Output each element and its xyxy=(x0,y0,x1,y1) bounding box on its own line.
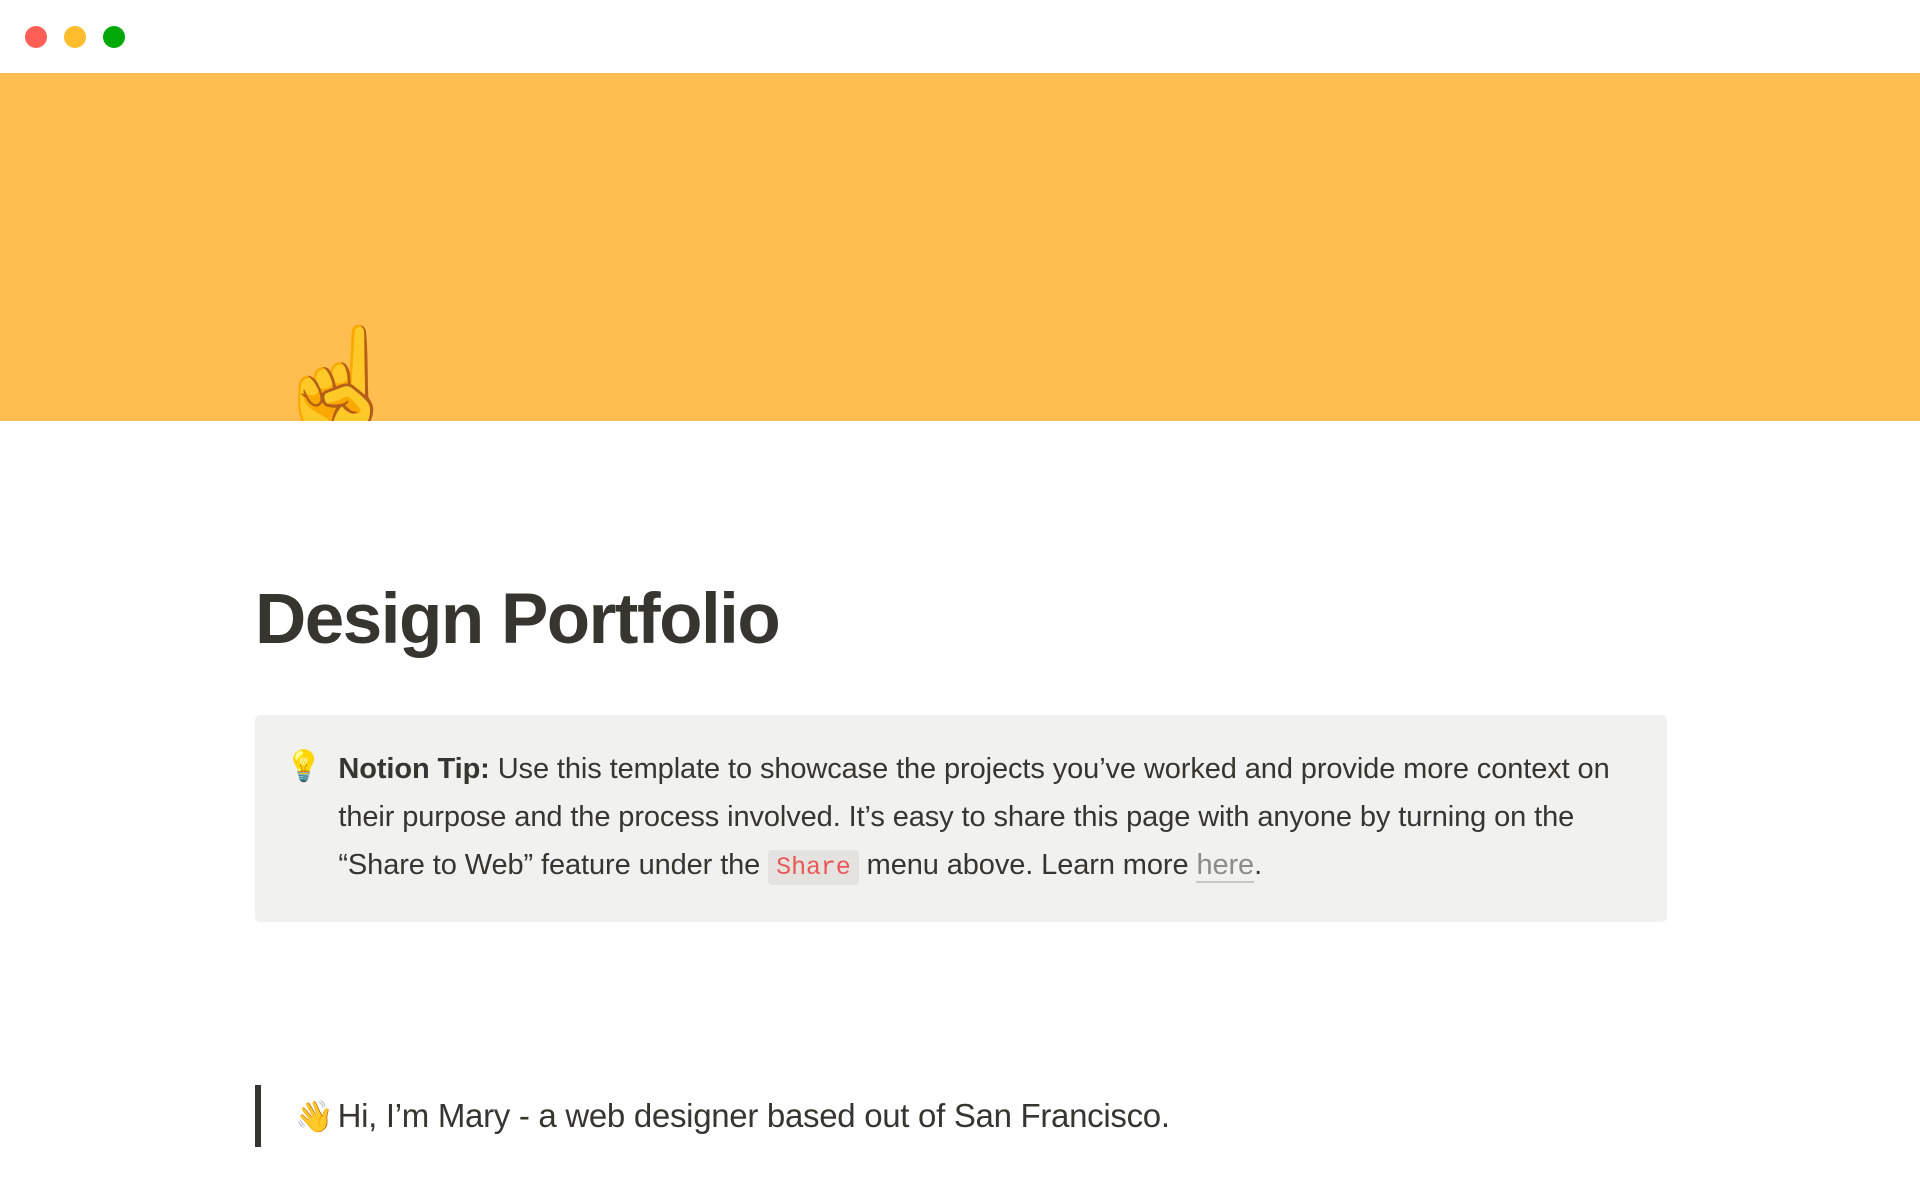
content-column: Design Portfolio 💡 Notion Tip: Use this … xyxy=(255,421,1665,1147)
learn-more-here-link[interactable]: here xyxy=(1196,849,1254,883)
close-window-button[interactable] xyxy=(25,26,47,48)
app-window: ☝️ Design Portfolio 💡 Notion Tip: Use th… xyxy=(0,0,1920,1200)
callout-text-part-3: . xyxy=(1254,849,1262,881)
page-title[interactable]: Design Portfolio xyxy=(255,581,1665,659)
quote-text: Hi, I’m Mary - a web designer based out … xyxy=(338,1094,1170,1139)
share-code-token[interactable]: Share xyxy=(768,850,859,885)
callout-text-part-2: menu above. Learn more xyxy=(859,849,1197,881)
window-controls xyxy=(25,26,125,48)
callout-bold-label: Notion Tip: xyxy=(338,753,489,785)
callout-text: Notion Tip: Use this template to showcas… xyxy=(338,745,1635,892)
quote-block[interactable]: 👋 Hi, I’m Mary - a web designer based ou… xyxy=(255,1085,1665,1147)
minimize-window-button[interactable] xyxy=(64,26,86,48)
callout-block[interactable]: 💡 Notion Tip: Use this template to showc… xyxy=(255,715,1667,922)
window-titlebar xyxy=(0,0,1920,73)
page-body: Design Portfolio 💡 Notion Tip: Use this … xyxy=(0,421,1920,1200)
waving-hand-icon: 👋 xyxy=(295,1101,334,1132)
maximize-window-button[interactable] xyxy=(103,26,125,48)
light-bulb-icon[interactable]: 💡 xyxy=(285,745,322,789)
